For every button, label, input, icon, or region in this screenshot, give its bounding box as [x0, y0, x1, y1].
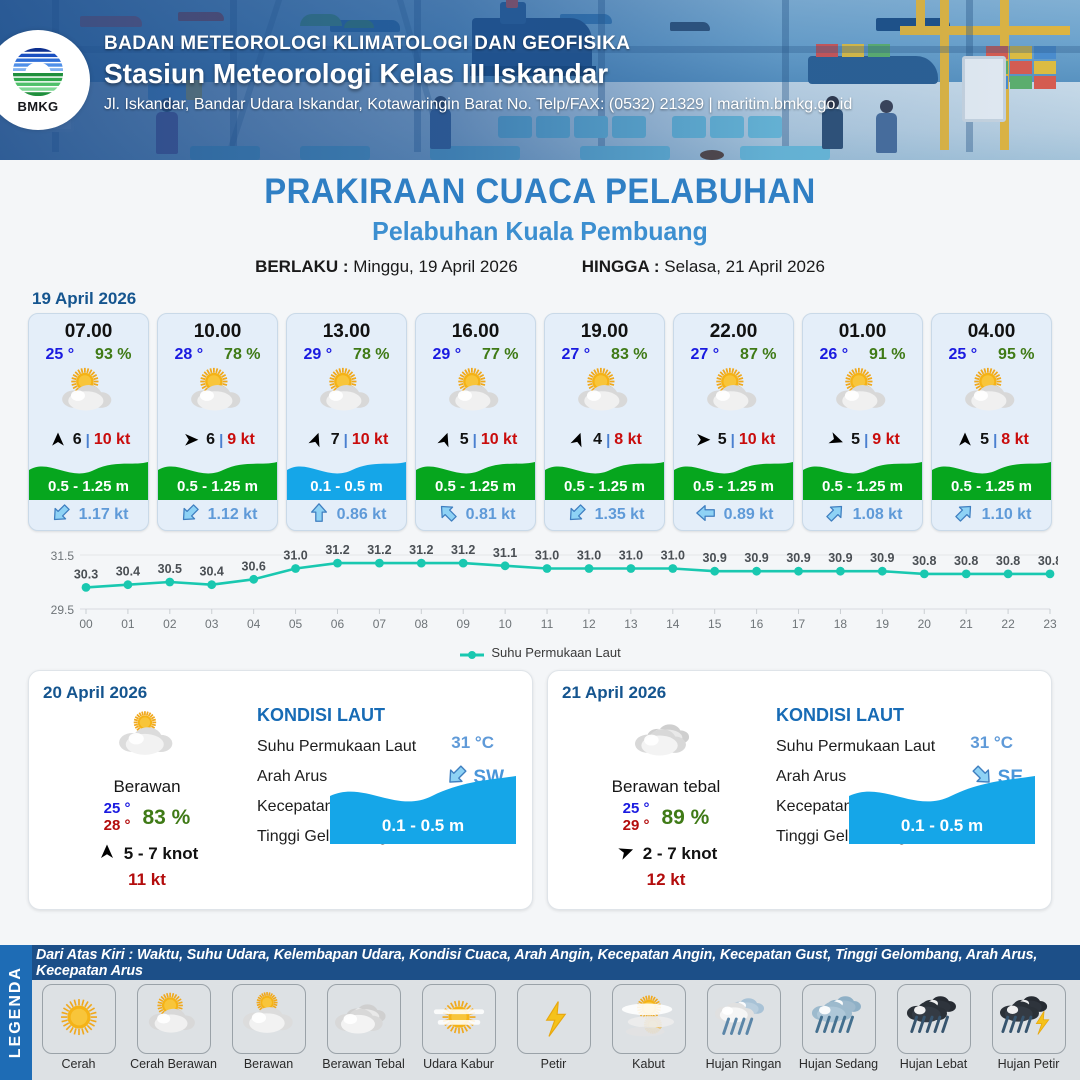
light-rain-icon	[707, 984, 781, 1054]
card-temp-hum-row: 29 ° 78 %	[287, 343, 406, 364]
legend-item: Berawan Tebal	[319, 984, 408, 1071]
wave-height-value: 0.1 - 0.5 m	[849, 816, 1035, 836]
wind-direction-arrow-icon	[567, 431, 589, 449]
card-temp-hum-row: 25 ° 95 %	[932, 343, 1051, 364]
legend-icons-area: Cerah Cerah Berawan Berawan	[0, 980, 1080, 1080]
header-text-block: BADAN METEOROLOGI KLIMATOLOGI DAN GEOFIS…	[104, 33, 1004, 114]
card-temp-hum-row: 28 ° 78 %	[158, 343, 277, 364]
svg-text:31.5: 31.5	[51, 549, 75, 563]
card-current-speed: 1.10 kt	[982, 506, 1032, 524]
card-wind-row: 6 | 10 kt	[29, 428, 148, 454]
card-wave-band: 0.5 - 1.25 m	[416, 454, 535, 500]
svg-text:31.2: 31.2	[451, 543, 475, 557]
sst-value: 31 °C	[970, 733, 1013, 753]
legend-item-label: Berawan	[224, 1057, 313, 1071]
forecast-card[interactable]: 01.00 26 ° 91 % 5 | 9 kt 0.5 - 1.25 m	[802, 313, 923, 531]
legend-item: Kabut	[604, 984, 693, 1071]
legend-item-label: Cerah	[34, 1057, 123, 1071]
day-temp-max: 28 °	[104, 818, 131, 835]
card-humidity: 93 %	[95, 346, 131, 364]
card-time: 10.00	[158, 314, 277, 343]
svg-text:20: 20	[918, 617, 932, 631]
day-left-block: Berawan tebal 25 ° 29 ° 89 % 2 - 7 knot …	[566, 709, 766, 890]
card-current-speed: 1.12 kt	[208, 506, 258, 524]
legend-note: Dari Atas Kiri : Waktu, Suhu Udara, Kele…	[36, 945, 1060, 980]
card-gust: 10 kt	[94, 431, 130, 449]
sunny-icon	[42, 984, 116, 1054]
card-wind-direction: 6	[206, 431, 215, 449]
card-humidity: 87 %	[740, 346, 776, 364]
card-temperature: 29 °	[303, 346, 332, 364]
svg-text:12: 12	[582, 617, 596, 631]
wave-height-badge: 0.1 - 0.5 m	[849, 774, 1035, 844]
day-temp-min: 25 °	[104, 801, 131, 818]
svg-text:30.4: 30.4	[116, 565, 140, 579]
valid-from: BERLAKU : Minggu, 19 April 2026	[255, 257, 518, 277]
card-wind-direction: 7	[331, 431, 340, 449]
card-gust: 8 kt	[614, 431, 642, 449]
card-time: 19.00	[545, 314, 664, 343]
current-direction-arrow-icon	[49, 502, 73, 529]
legend-item: Hujan Lebat	[889, 984, 978, 1071]
svg-text:31.0: 31.0	[535, 549, 559, 563]
wave-height-badge: 0.1 - 0.5 m	[330, 774, 516, 844]
forecast-card[interactable]: 10.00 28 ° 78 % 6 | 9 kt 0.5 - 1.25 m	[157, 313, 278, 531]
svg-text:15: 15	[708, 617, 722, 631]
wind-direction-arrow-icon	[47, 431, 69, 449]
card-wave-band: 0.5 - 1.25 m	[29, 454, 148, 500]
validity-row: BERLAKU : Minggu, 19 April 2026 HINGGA :…	[0, 257, 1080, 277]
legend-item-label: Hujan Lebat	[889, 1057, 978, 1071]
svg-text:00: 00	[79, 617, 93, 631]
valid-from-label: BERLAKU :	[255, 257, 349, 276]
svg-text:06: 06	[331, 617, 345, 631]
card-separator: |	[606, 432, 610, 449]
partly-cloudy-icon	[287, 364, 406, 428]
card-wave-height: 0.5 - 1.25 m	[545, 478, 664, 495]
haze-icon	[422, 984, 496, 1054]
card-temp-hum-row: 25 ° 93 %	[29, 343, 148, 364]
card-wind-row: 5 | 10 kt	[416, 428, 535, 454]
svg-text:31.2: 31.2	[409, 543, 433, 557]
valid-until-value: Selasa, 21 April 2026	[664, 257, 825, 276]
day-wind-range: 2 - 7 knot	[643, 844, 718, 864]
title-section: PRAKIRAAN CUACA PELABUHAN Pelabuhan Kual…	[0, 160, 1080, 277]
svg-text:31.0: 31.0	[283, 549, 307, 563]
current-direction-arrow-icon	[694, 502, 718, 529]
legend-side-title-text: LEGENDA	[7, 966, 25, 1058]
svg-text:31.2: 31.2	[367, 543, 391, 557]
svg-text:30.9: 30.9	[744, 551, 768, 565]
day-humidity: 89 %	[661, 806, 709, 830]
bmkg-logo-text: BMKG	[18, 99, 59, 114]
card-humidity: 78 %	[224, 346, 260, 364]
day-temp-max: 29 °	[623, 818, 650, 835]
card-wave-band: 0.1 - 0.5 m	[287, 454, 406, 500]
svg-text:01: 01	[121, 617, 135, 631]
day-humidity: 83 %	[142, 806, 190, 830]
partly-cloudy-icon	[803, 364, 922, 428]
svg-text:30.8: 30.8	[912, 554, 936, 568]
day-condition: Berawan tebal	[566, 777, 766, 797]
card-gust: 8 kt	[1001, 431, 1029, 449]
card-temperature: 27 °	[690, 346, 719, 364]
legend-item-label: Kabut	[604, 1057, 693, 1071]
overcast-icon	[327, 984, 401, 1054]
forecast-card[interactable]: 22.00 27 ° 87 % 5 | 10 kt 0.5 - 1.25 m	[673, 313, 794, 531]
forecast-date-label: 19 April 2026	[32, 289, 1080, 309]
card-humidity: 95 %	[998, 346, 1034, 364]
legend-item: Berawan	[224, 984, 313, 1071]
station-address: Jl. Iskandar, Bandar Udara Iskandar, Kot…	[104, 96, 1004, 114]
legend-item: Cerah Berawan	[129, 984, 218, 1071]
card-time: 13.00	[287, 314, 406, 343]
card-temp-hum-row: 29 ° 77 %	[416, 343, 535, 364]
partly-cloudy-icon	[545, 364, 664, 428]
card-wave-band: 0.5 - 1.25 m	[674, 454, 793, 500]
card-wave-band: 0.5 - 1.25 m	[545, 454, 664, 500]
legend-item: Hujan Sedang	[794, 984, 883, 1071]
svg-text:23: 23	[1043, 617, 1057, 631]
svg-text:09: 09	[457, 617, 471, 631]
svg-text:05: 05	[289, 617, 303, 631]
card-separator: |	[344, 432, 348, 449]
day-date: 20 April 2026	[43, 683, 518, 703]
card-wind-row: 7 | 10 kt	[287, 428, 406, 454]
wave-height-value: 0.1 - 0.5 m	[330, 816, 516, 836]
card-current-speed: 0.89 kt	[724, 506, 774, 524]
card-wave-height: 0.1 - 0.5 m	[287, 478, 406, 495]
station-name: Stasiun Meteorologi Kelas III Iskandar	[104, 58, 1004, 90]
day-wind-row: 2 - 7 knot	[566, 843, 766, 866]
svg-text:08: 08	[415, 617, 429, 631]
svg-text:03: 03	[205, 617, 219, 631]
sea-condition-block: KONDISI LAUT Suhu Permukaan Laut Arah Ar…	[257, 705, 518, 846]
card-time: 22.00	[674, 314, 793, 343]
card-temperature: 27 °	[561, 346, 590, 364]
legend-item-label: Hujan Petir	[984, 1057, 1073, 1071]
page-subtitle: Pelabuhan Kuala Pembuang	[22, 216, 1059, 247]
svg-text:30.8: 30.8	[954, 554, 978, 568]
card-current-row: 0.86 kt	[287, 500, 406, 530]
card-wind-direction: 6	[73, 431, 82, 449]
svg-text:16: 16	[750, 617, 764, 631]
card-humidity: 91 %	[869, 346, 905, 364]
day-temp-min: 25 °	[623, 801, 650, 818]
partly-cloudy-icon	[674, 364, 793, 428]
card-separator: |	[219, 432, 223, 449]
card-humidity: 83 %	[611, 346, 647, 364]
overcast-icon	[566, 709, 766, 771]
wind-direction-arrow-icon	[692, 431, 714, 449]
card-wind-row: 6 | 9 kt	[158, 428, 277, 454]
svg-text:04: 04	[247, 617, 261, 631]
card-wind-row: 5 | 8 kt	[932, 428, 1051, 454]
svg-text:30.9: 30.9	[703, 551, 727, 565]
partly-cloudy-icon	[416, 364, 535, 428]
legend-item: Hujan Ringan	[699, 984, 788, 1071]
legend-strip: Dari Atas Kiri : Waktu, Suhu Udara, Kele…	[0, 945, 1080, 1080]
svg-text:31.1: 31.1	[493, 546, 517, 560]
infographic-root: BMKG BADAN METEOROLOGI KLIMATOLOGI DAN G…	[0, 0, 1080, 1080]
card-temp-hum-row: 27 ° 83 %	[545, 343, 664, 364]
page-header: BMKG BADAN METEOROLOGI KLIMATOLOGI DAN G…	[0, 0, 1080, 160]
card-separator: |	[864, 432, 868, 449]
card-gust: 10 kt	[481, 431, 517, 449]
legend-item-label: Hujan Ringan	[699, 1057, 788, 1071]
svg-text:11: 11	[541, 617, 554, 631]
legend-item-label: Udara Kabur	[414, 1057, 503, 1071]
card-time: 16.00	[416, 314, 535, 343]
svg-text:02: 02	[163, 617, 177, 631]
current-direction-arrow-icon	[307, 502, 331, 529]
svg-text:14: 14	[666, 617, 680, 631]
card-wind-direction: 4	[593, 431, 602, 449]
wind-direction-arrow-icon	[825, 431, 847, 449]
valid-from-value: Minggu, 19 April 2026	[353, 257, 517, 276]
agency-name: BADAN METEOROLOGI KLIMATOLOGI DAN GEOFIS…	[104, 33, 1004, 55]
card-separator: |	[993, 432, 997, 449]
day-wind-range: 5 - 7 knot	[124, 844, 199, 864]
sea-condition-title: KONDISI LAUT	[776, 705, 1037, 726]
sst-value: 31 °C	[451, 733, 494, 753]
partly-cloudy-icon	[137, 984, 211, 1054]
svg-text:17: 17	[792, 617, 806, 631]
wind-direction-arrow-icon	[434, 431, 456, 449]
legend-item: Hujan Petir	[984, 984, 1073, 1071]
card-temperature: 25 °	[45, 346, 74, 364]
card-wave-band: 0.5 - 1.25 m	[158, 454, 277, 500]
card-wind-row: 5 | 9 kt	[803, 428, 922, 454]
legend-item: Udara Kabur	[414, 984, 503, 1071]
sea-condition-title: KONDISI LAUT	[257, 705, 518, 726]
card-separator: |	[731, 432, 735, 449]
lightning-icon	[517, 984, 591, 1054]
card-humidity: 77 %	[482, 346, 518, 364]
card-wave-height: 0.5 - 1.25 m	[158, 478, 277, 495]
card-gust: 10 kt	[352, 431, 388, 449]
valid-until-label: HINGGA :	[582, 257, 660, 276]
card-time: 01.00	[803, 314, 922, 343]
svg-text:30.3: 30.3	[74, 567, 98, 581]
current-direction-arrow-icon	[436, 502, 460, 529]
wind-direction-arrow-icon	[954, 431, 976, 449]
sst-chart: 31.529.500010203040506070809101112131415…	[22, 541, 1058, 641]
partly-cloudy-icon	[29, 364, 148, 428]
card-current-row: 0.89 kt	[674, 500, 793, 530]
daily-summary-row: 20 April 2026 Berawan 25 ° 28 ° 83 % 5 -	[0, 660, 1080, 910]
card-temperature: 28 °	[174, 346, 203, 364]
svg-text:29.5: 29.5	[51, 603, 75, 617]
card-wave-height: 0.5 - 1.25 m	[29, 478, 148, 495]
current-direction-arrow-icon	[565, 502, 589, 529]
card-wave-height: 0.5 - 1.25 m	[803, 478, 922, 495]
thunderstorm-rain-icon	[992, 984, 1066, 1054]
forecast-card[interactable]: 19.00 27 ° 83 % 4 | 8 kt 0.5 - 1.25 m	[544, 313, 665, 531]
day-gust: 11 kt	[47, 870, 247, 890]
bmkg-logo-mark	[9, 46, 67, 98]
chart-legend: Suhu Permukaan Laut	[0, 645, 1080, 660]
chart-legend-marker	[459, 648, 485, 658]
card-wave-height: 0.5 - 1.25 m	[932, 478, 1051, 495]
card-current-row: 1.35 kt	[545, 500, 664, 530]
card-current-speed: 0.81 kt	[466, 506, 516, 524]
day-gust: 12 kt	[566, 870, 766, 890]
svg-text:30.4: 30.4	[200, 565, 224, 579]
svg-text:07: 07	[373, 617, 387, 631]
svg-text:22: 22	[1001, 617, 1015, 631]
legend-item-label: Hujan Sedang	[794, 1057, 883, 1071]
wind-direction-arrow-icon	[96, 843, 118, 866]
forecast-card[interactable]: 16.00 29 ° 77 % 5 | 10 kt 0.5 - 1.25 m	[415, 313, 536, 531]
day-temp-hum: 25 ° 28 ° 83 %	[47, 801, 247, 835]
card-wind-direction: 5	[851, 431, 860, 449]
svg-text:19: 19	[876, 617, 890, 631]
card-separator: |	[86, 432, 90, 449]
day-left-block: Berawan 25 ° 28 ° 83 % 5 - 7 knot 11 kt	[47, 709, 247, 890]
wind-direction-arrow-icon	[180, 431, 202, 449]
svg-text:30.6: 30.6	[242, 559, 266, 573]
card-gust: 10 kt	[739, 431, 775, 449]
legend-item: Petir	[509, 984, 598, 1071]
legend-item-label: Cerah Berawan	[129, 1057, 218, 1071]
card-humidity: 78 %	[353, 346, 389, 364]
card-temp-hum-row: 27 ° 87 %	[674, 343, 793, 364]
forecast-card[interactable]: 07.00 25 ° 93 % 6 | 10 kt 0.5 - 1.25 m	[28, 313, 149, 531]
svg-text:30.8: 30.8	[1038, 554, 1058, 568]
card-wave-height: 0.5 - 1.25 m	[674, 478, 793, 495]
daily-summary-card[interactable]: 21 April 2026 Berawan tebal 25 ° 29 ° 89…	[547, 670, 1052, 910]
card-temp-hum-row: 26 ° 91 %	[803, 343, 922, 364]
card-wind-row: 5 | 10 kt	[674, 428, 793, 454]
card-wind-row: 4 | 8 kt	[545, 428, 664, 454]
card-current-row: 1.08 kt	[803, 500, 922, 530]
card-current-row: 1.12 kt	[158, 500, 277, 530]
card-wave-height: 0.5 - 1.25 m	[416, 478, 535, 495]
svg-text:30.9: 30.9	[828, 551, 852, 565]
svg-text:30.8: 30.8	[996, 554, 1020, 568]
card-current-speed: 1.35 kt	[595, 506, 645, 524]
card-gust: 9 kt	[872, 431, 900, 449]
valid-until: HINGGA : Selasa, 21 April 2026	[582, 257, 825, 277]
legend-note-bar: Dari Atas Kiri : Waktu, Suhu Udara, Kele…	[0, 945, 1080, 980]
forecast-card[interactable]: 13.00 29 ° 78 % 7 | 10 kt 0.1 - 0.5 m	[286, 313, 407, 531]
legend-item-label: Berawan Tebal	[319, 1057, 408, 1071]
svg-text:31.0: 31.0	[661, 549, 685, 563]
svg-text:30.9: 30.9	[786, 551, 810, 565]
svg-text:31.2: 31.2	[325, 543, 349, 557]
card-wind-direction: 5	[460, 431, 469, 449]
card-time: 07.00	[29, 314, 148, 343]
card-gust: 9 kt	[227, 431, 255, 449]
card-current-speed: 0.86 kt	[337, 506, 387, 524]
cloudy-icon	[232, 984, 306, 1054]
daily-summary-card[interactable]: 20 April 2026 Berawan 25 ° 28 ° 83 % 5 -	[28, 670, 533, 910]
partly-cloudy-icon	[932, 364, 1051, 428]
svg-text:31.0: 31.0	[577, 549, 601, 563]
card-wind-direction: 5	[980, 431, 989, 449]
card-temperature: 25 °	[948, 346, 977, 364]
wind-direction-arrow-icon	[615, 843, 637, 866]
svg-text:18: 18	[834, 617, 848, 631]
card-current-row: 1.10 kt	[932, 500, 1051, 530]
card-time: 04.00	[932, 314, 1051, 343]
legend-item-label: Petir	[509, 1057, 598, 1071]
card-current-row: 0.81 kt	[416, 500, 535, 530]
card-current-speed: 1.08 kt	[853, 506, 903, 524]
forecast-card-row: 07.00 25 ° 93 % 6 | 10 kt 0.5 - 1.25 m	[0, 313, 1080, 531]
card-current-speed: 1.17 kt	[79, 506, 129, 524]
heavy-rain-icon	[897, 984, 971, 1054]
cloudy-icon	[47, 709, 247, 771]
svg-text:30.9: 30.9	[870, 551, 894, 565]
svg-text:30.5: 30.5	[158, 562, 182, 576]
svg-text:31.0: 31.0	[619, 549, 643, 563]
legend-side-title: LEGENDA	[0, 945, 32, 1080]
svg-text:21: 21	[959, 617, 973, 631]
partly-cloudy-icon	[158, 364, 277, 428]
legend-item: Cerah	[34, 984, 123, 1071]
card-temperature: 29 °	[432, 346, 461, 364]
svg-text:10: 10	[498, 617, 512, 631]
current-direction-arrow-icon	[178, 502, 202, 529]
card-wave-band: 0.5 - 1.25 m	[803, 454, 922, 500]
day-wind-row: 5 - 7 knot	[47, 843, 247, 866]
card-separator: |	[473, 432, 477, 449]
day-date: 21 April 2026	[562, 683, 1037, 703]
day-temp-hum: 25 ° 29 ° 89 %	[566, 801, 766, 835]
wind-direction-arrow-icon	[305, 431, 327, 449]
fog-icon	[612, 984, 686, 1054]
card-temperature: 26 °	[819, 346, 848, 364]
card-wind-direction: 5	[718, 431, 727, 449]
current-direction-arrow-icon	[823, 502, 847, 529]
current-direction-arrow-icon	[952, 502, 976, 529]
chart-legend-label: Suhu Permukaan Laut	[491, 645, 620, 660]
svg-text:13: 13	[624, 617, 638, 631]
card-current-row: 1.17 kt	[29, 500, 148, 530]
day-condition: Berawan	[47, 777, 247, 797]
card-wave-band: 0.5 - 1.25 m	[932, 454, 1051, 500]
moderate-rain-icon	[802, 984, 876, 1054]
forecast-card[interactable]: 04.00 25 ° 95 % 5 | 8 kt 0.5 - 1.25 m	[931, 313, 1052, 531]
page-title: PRAKIRAAN CUACA PELABUHAN	[32, 172, 1047, 212]
sea-condition-block: KONDISI LAUT Suhu Permukaan Laut Arah Ar…	[776, 705, 1037, 846]
